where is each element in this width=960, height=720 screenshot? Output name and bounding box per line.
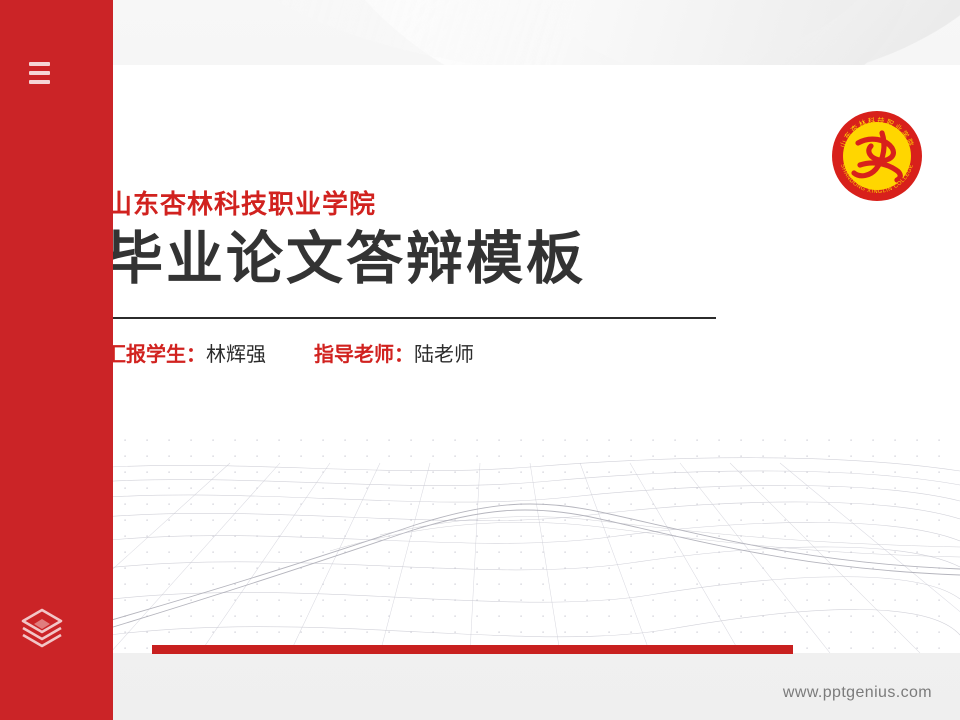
advisor-label: 指导老师： xyxy=(314,344,414,366)
presentation-slide: 山东杏林科技职业学院 SHANDONG XINGLIN COLLEGE 山东杏林… xyxy=(0,0,960,720)
menu-bar-3 xyxy=(29,80,50,84)
bottom-red-rule xyxy=(152,645,793,654)
footer-url[interactable]: www.pptgenius.com xyxy=(783,684,932,702)
page-title: 毕业论文答辩模板 xyxy=(106,228,806,292)
presenter-meta-row: 汇报学生：林辉强指导老师：陆老师 xyxy=(106,343,806,367)
school-name: 山东杏林科技职业学院 xyxy=(106,190,806,220)
student-name: 林辉强 xyxy=(206,344,266,366)
menu-bar-2 xyxy=(29,71,50,75)
layers-stack-icon[interactable] xyxy=(19,606,65,650)
mesh-svg xyxy=(80,423,960,653)
title-text-block: 山东杏林科技职业学院 毕业论文答辩模板 汇报学生：林辉强指导老师：陆老师 xyxy=(106,190,806,367)
advisor-name: 陆老师 xyxy=(414,344,474,366)
college-logo: 山东杏林科技职业学院 SHANDONG XINGLIN COLLEGE xyxy=(824,103,930,209)
menu-bar-1 xyxy=(29,62,50,66)
title-divider xyxy=(106,317,716,319)
left-red-sidebar xyxy=(0,0,113,720)
layers-stack-svg xyxy=(19,606,65,650)
college-logo-svg: 山东杏林科技职业学院 SHANDONG XINGLIN COLLEGE xyxy=(824,103,930,209)
hamburger-menu-icon[interactable] xyxy=(29,62,50,84)
student-label: 汇报学生： xyxy=(106,344,206,366)
wireframe-mesh-decoration xyxy=(80,423,960,653)
